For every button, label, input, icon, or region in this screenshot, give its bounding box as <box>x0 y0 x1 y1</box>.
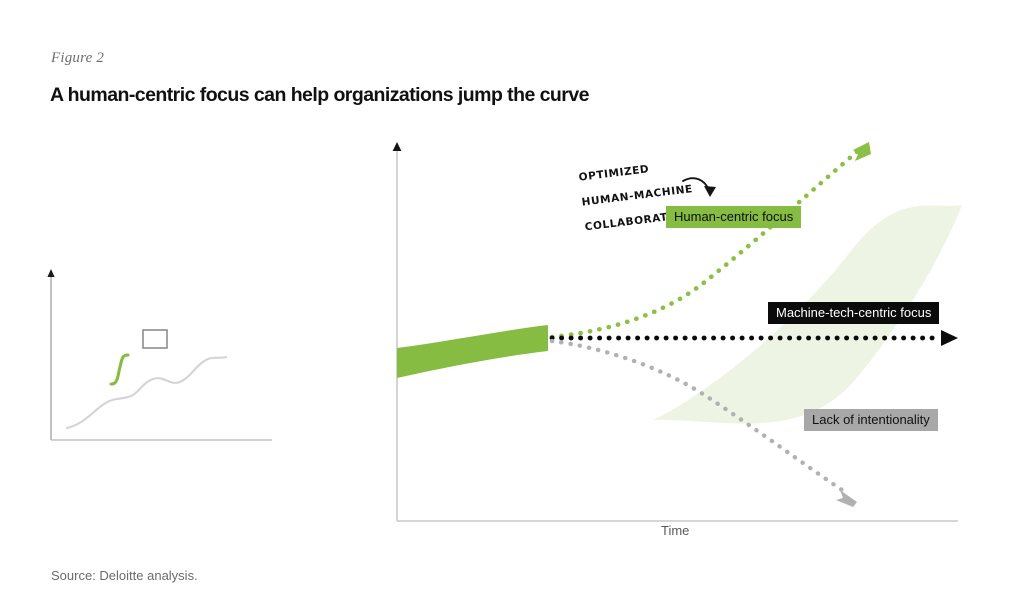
label-lack-of-intentionality: Lack of intentionality <box>804 409 938 431</box>
handwritten-arrow-head-icon <box>704 186 716 197</box>
label-human-centric-focus: Human-centric focus <box>666 206 801 228</box>
handwritten-line-2: HUMAN-MACHINE <box>581 183 693 209</box>
x-axis-title: Time <box>661 523 689 538</box>
inset-y-axis-arrow-icon <box>47 269 54 277</box>
series-machine-tech-centric-focus-arrow-icon <box>941 330 958 346</box>
series-human-centric-focus-arrow-icon <box>853 142 871 161</box>
inset-placeholder-box <box>143 330 167 348</box>
label-machine-tech-centric-focus: Machine-tech-centric focus <box>768 302 939 324</box>
inset-thumbnail-chart <box>47 269 272 440</box>
inset-growth-curve <box>67 357 226 428</box>
handwritten-line-1: OPTIMIZED <box>578 163 650 184</box>
series-lack-of-intentionality-arrow-icon <box>836 490 857 507</box>
y-axis-arrow-icon <box>393 142 402 151</box>
series-shared-trajectory-band <box>397 325 548 378</box>
inset-s-curve-marker <box>111 355 128 384</box>
